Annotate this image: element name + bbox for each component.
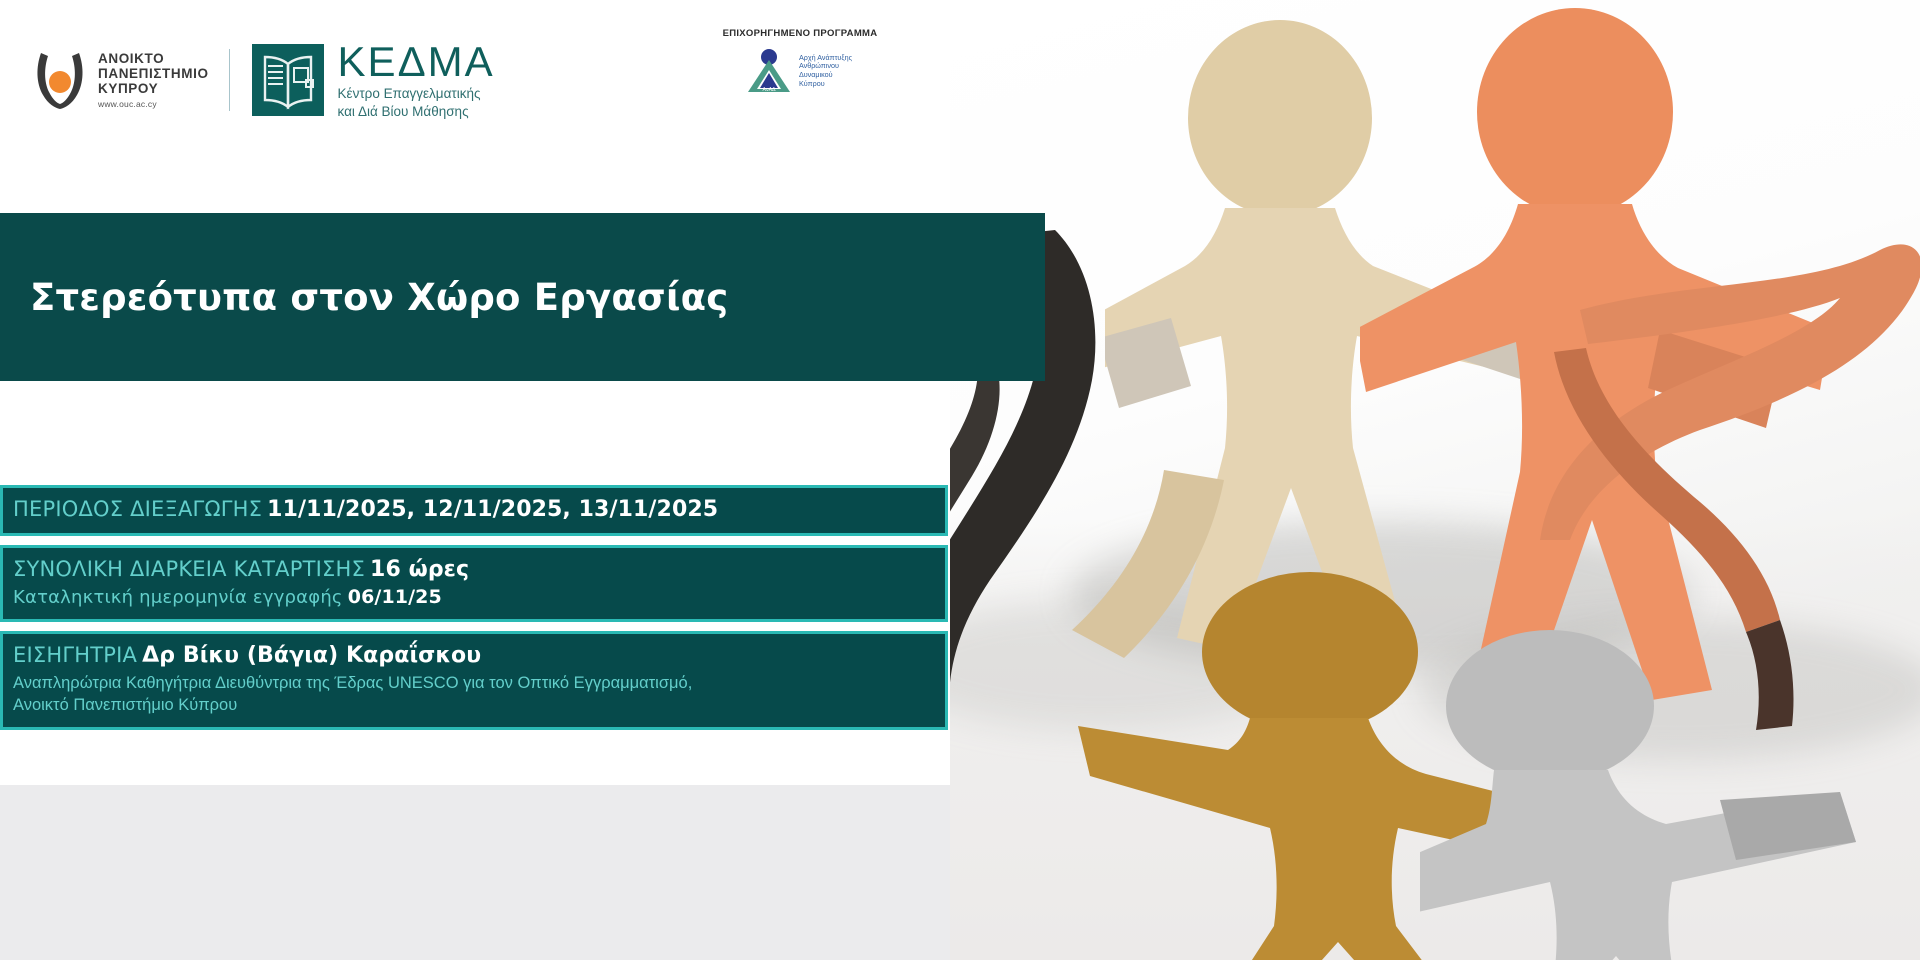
- kedma-sub-2: και Διά Βίου Μάθησης: [338, 104, 495, 120]
- period-label: ΠΕΡΙΟΔΟΣ ΔΙΕΞΑΓΩΓΗΣ: [13, 497, 262, 521]
- poster-canvas: ΑΝΟΙΚΤΟ ΠΑΝΕΠΙΣΤΗΜΙΟ ΚΥΠΡΟΥ www.ouc.ac.c…: [0, 0, 1920, 960]
- info-box-duration: ΣΥΝΟΛΙΚΗ ΔΙΑΡΚΕΙΑ ΚΑΤΑΡΤΙΣΗΣ 16 ώρες Κατ…: [0, 545, 948, 622]
- ouc-line-2: ΠΑΝΕΠΙΣΤΗΜΙΟ: [98, 66, 209, 81]
- duration-label: ΣΥΝΟΛΙΚΗ ΔΙΑΡΚΕΙΑ ΚΑΤΑΡΤΙΣΗΣ: [13, 557, 365, 581]
- kedma-sub-1: Κέντρο Επαγγελματικής: [338, 86, 495, 102]
- info-box-period: ΠΕΡΙΟΔΟΣ ΔΙΕΞΑΓΩΓΗΣ 11/11/2025, 12/11/20…: [0, 485, 948, 536]
- instructor-affiliation-1: Αναπληρώτρια Καθηγήτρια Διευθύντρια της …: [13, 672, 945, 694]
- figure-grey: [1420, 620, 1890, 960]
- kedma-logo: ΚΕΔΜΑ Κέντρο Επαγγελματικής και Διά Βίου…: [252, 40, 495, 120]
- title-bar: Στερεότυπα στον Χώρο Εργασίας: [0, 213, 1045, 381]
- sponsor-block: ΕΠΙΧΟΡΗΓΗΜΕΝΟ ΠΡΟΓΡΑΜΜΑ ΑνΑΔ Αρχή Ανάπτυ…: [700, 28, 900, 94]
- ouc-wordmark: ΑΝΟΙΚΤΟ ΠΑΝΕΠΙΣΤΗΜΙΟ ΚΥΠΡΟΥ www.ouc.ac.c…: [98, 51, 209, 109]
- anad-wordmark: Αρχή Ανάπτυξης Ανθρώπινου Δυναμικού Κύπρ…: [799, 54, 852, 88]
- ouc-url: www.ouc.ac.cy: [98, 99, 209, 109]
- deadline-value: 06/11/25: [348, 586, 442, 608]
- ouc-hands-icon: [34, 49, 86, 111]
- ouc-line-1: ΑΝΟΙΚΤΟ: [98, 51, 209, 66]
- ouc-line-3: ΚΥΠΡΟΥ: [98, 81, 209, 96]
- instructor-affiliation-2: Ανοικτό Πανεπιστήμιο Κύπρου: [13, 694, 945, 716]
- duration-value: 16 ώρες: [370, 557, 469, 582]
- logo-divider: [229, 49, 230, 111]
- instructor-label: ΕΙΣΗΓΗΤΡΙΑ: [13, 643, 137, 667]
- kedma-name: ΚΕΔΜΑ: [338, 40, 495, 84]
- bottom-light-area: [0, 785, 950, 960]
- instructor-name: Δρ Βίκυ (Βάγια) Καραΐσκου: [142, 643, 481, 668]
- sponsor-title: ΕΠΙΧΟΡΗΓΗΜΕΝΟ ΠΡΟΓΡΑΜΜΑ: [700, 28, 900, 39]
- info-box-instructor: ΕΙΣΗΓΗΤΡΙΑ Δρ Βίκυ (Βάγια) Καραΐσκου Ανα…: [0, 631, 948, 730]
- logo-bar: ΑΝΟΙΚΤΟ ΠΑΝΕΠΙΣΤΗΜΙΟ ΚΥΠΡΟΥ www.ouc.ac.c…: [0, 0, 950, 160]
- period-value: 11/11/2025, 12/11/2025, 13/11/2025: [267, 497, 718, 522]
- photo-paper-people: [950, 0, 1920, 960]
- page-title: Στερεότυπα στον Χώρο Εργασίας: [30, 276, 728, 319]
- anad-logo-icon: ΑνΑΔ: [748, 48, 792, 94]
- anad-line-4: Κύπρου: [799, 80, 852, 89]
- svg-text:ΑνΑΔ: ΑνΑΔ: [762, 87, 776, 93]
- ouc-logo: ΑΝΟΙΚΤΟ ΠΑΝΕΠΙΣΤΗΜΙΟ ΚΥΠΡΟΥ www.ouc.ac.c…: [34, 49, 209, 111]
- deadline-label: Καταληκτική ημερομηνία εγγραφής: [13, 587, 343, 608]
- kedma-wordmark: ΚΕΔΜΑ Κέντρο Επαγγελματικής και Διά Βίου…: [338, 40, 495, 120]
- figure-beige-back-arc: [1014, 470, 1274, 690]
- kedma-book-icon: [252, 44, 324, 116]
- info-boxes: ΠΕΡΙΟΔΟΣ ΔΙΕΞΑΓΩΓΗΣ 11/11/2025, 12/11/20…: [0, 485, 950, 739]
